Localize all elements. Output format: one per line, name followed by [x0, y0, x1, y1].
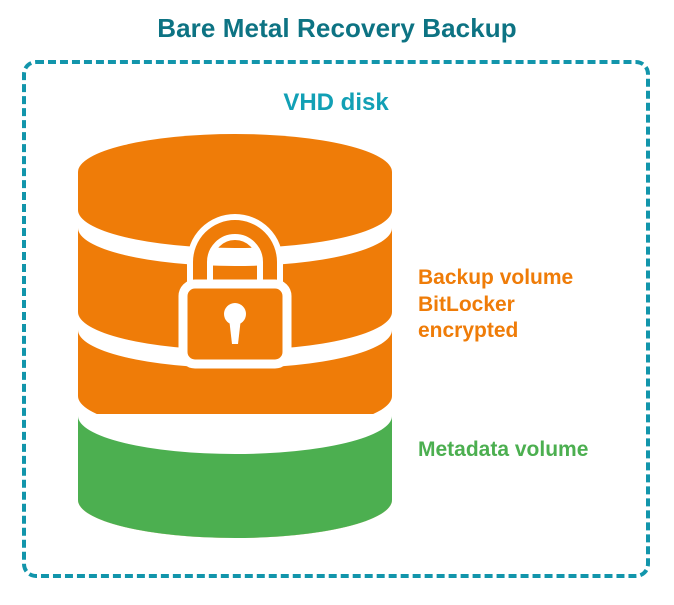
metadata-volume-label: Metadata volume	[418, 437, 588, 464]
vhd-disk-label: VHD disk	[22, 89, 650, 117]
page-title: Bare Metal Recovery Backup	[0, 14, 674, 43]
vhd-disk-cylinder	[70, 132, 400, 542]
diagram-canvas: Bare Metal Recovery Backup VHD disk	[0, 0, 674, 605]
backup-volume-label: Backup volume BitLocker encrypted	[418, 265, 573, 345]
